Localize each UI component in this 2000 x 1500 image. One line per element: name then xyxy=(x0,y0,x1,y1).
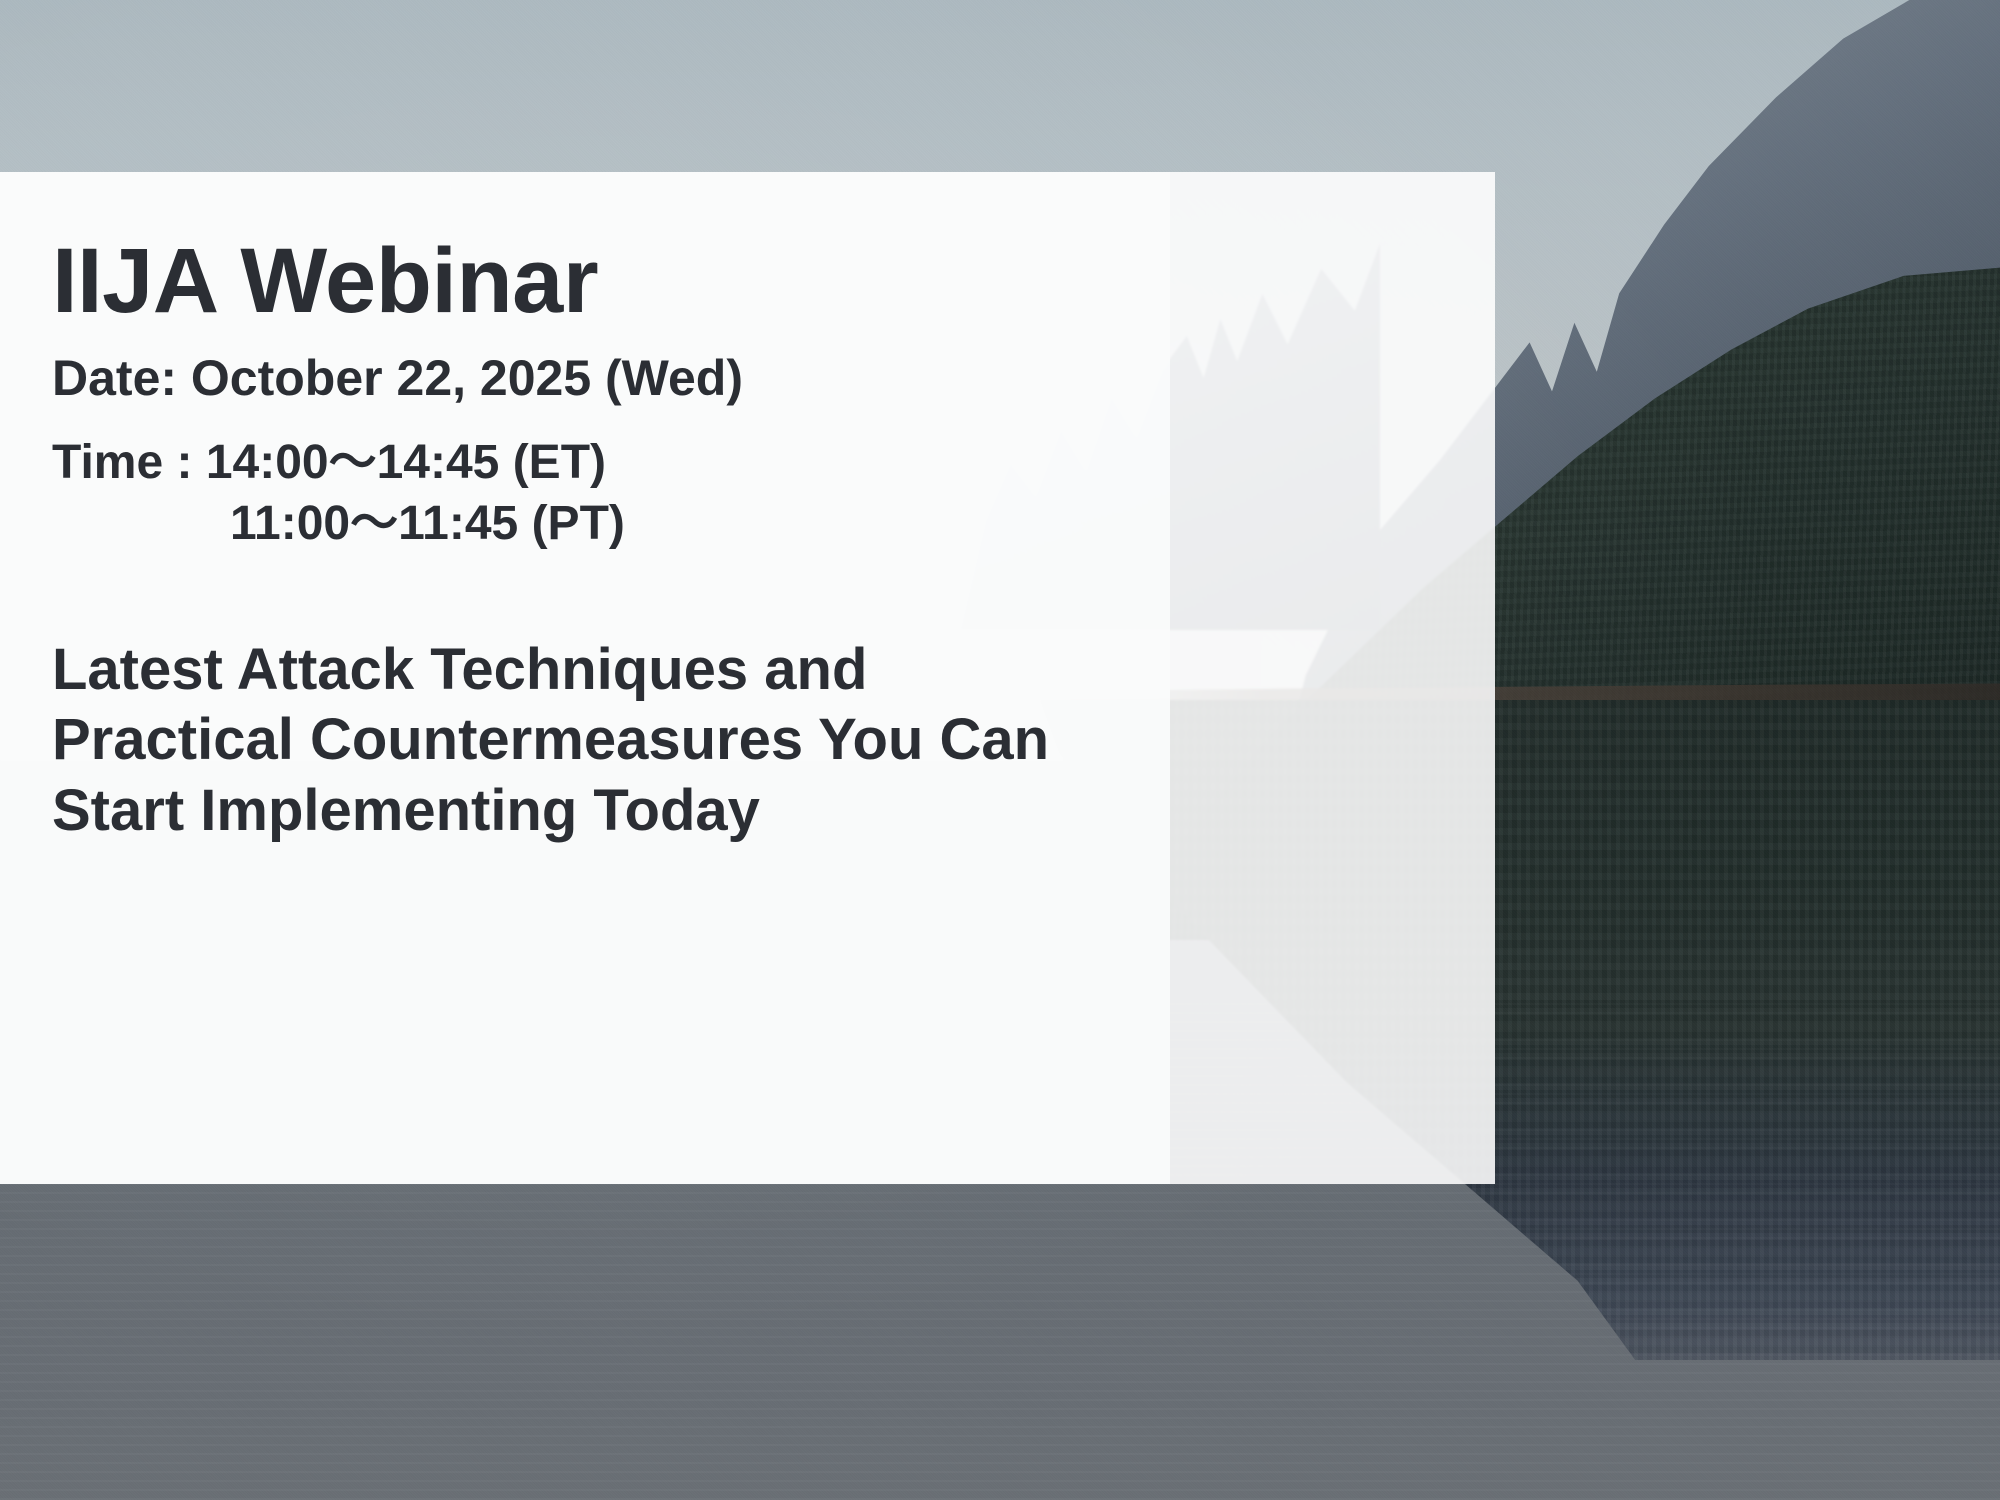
webinar-announcement-slide: IIJA Webinar Date: October 22, 2025 (Wed… xyxy=(0,0,2000,1500)
content-panel-body: IIJA Webinar Date: October 22, 2025 (Wed… xyxy=(52,172,1302,847)
session-title: Latest Attack Techniques and Practical C… xyxy=(52,555,1062,847)
event-date: Date: October 22, 2025 (Wed) xyxy=(52,330,1302,408)
content-panel: IIJA Webinar Date: October 22, 2025 (Wed… xyxy=(0,172,1495,1184)
event-time-et: Time : 14:00～14:45 (ET) xyxy=(52,436,606,489)
page-title: IIJA Webinar xyxy=(52,172,1302,330)
event-time-block: Time : 14:00～14:45 (ET)11:00～11:45 (PT) xyxy=(52,408,1302,555)
event-time-pt: 11:00～11:45 (PT) xyxy=(52,493,1302,554)
